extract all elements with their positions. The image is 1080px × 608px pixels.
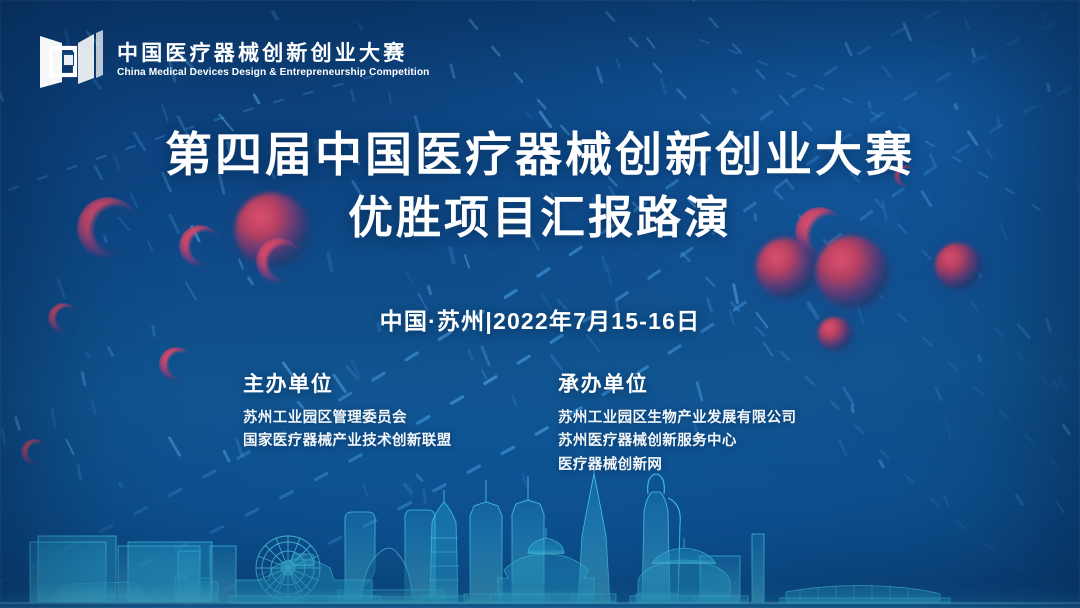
event-date-location: 中国·苏州|2022年7月15-16日 bbox=[0, 302, 1080, 336]
sparkle-dash bbox=[585, 334, 601, 353]
skyline-silhouette bbox=[0, 458, 1080, 608]
sparkle-dash bbox=[270, 10, 279, 21]
sparkle-dash bbox=[953, 103, 959, 111]
sparkle-dash bbox=[405, 270, 414, 285]
organizer-block-coorganizer: 承办单位 苏州工业园区生物产业发展有限公司 苏州医疗器械创新服务中心 医疗器械创… bbox=[540, 368, 855, 477]
sparkle-dash bbox=[646, 37, 657, 50]
sparkle-dash bbox=[964, 17, 971, 30]
logo-english-name: China Medical Devices Design & Entrepren… bbox=[117, 67, 429, 78]
organizer-title-coorganizer: 承办单位 bbox=[558, 368, 855, 398]
open-door-logo-icon bbox=[38, 28, 104, 90]
sparkle-dash bbox=[238, 258, 244, 270]
headline-line-1: 第四届中国医疗器械创新创业大赛 bbox=[0, 126, 1080, 183]
sparkle-dash bbox=[84, 350, 91, 358]
organizer-item: 国家医疗器械产业技术创新联盟 bbox=[243, 430, 540, 453]
sparkle-dash bbox=[1046, 82, 1051, 92]
sparkle-dash bbox=[1039, 12, 1047, 22]
sparkle-dash bbox=[350, 89, 356, 102]
sparkle-dash bbox=[161, 104, 169, 121]
organizer-section: 主办单位 苏州工业园区管理委员会 国家医疗器械产业技术创新联盟 承办单位 苏州工… bbox=[0, 368, 1080, 477]
sparkle-dash bbox=[867, 101, 872, 109]
sparkle-dash bbox=[388, 92, 392, 103]
sparkle-dash bbox=[762, 341, 774, 357]
organizer-title-host: 主办单位 bbox=[243, 368, 540, 398]
poster-canvas: 中国医疗器械创新创业大赛 China Medical Devices Desig… bbox=[0, 0, 1080, 608]
sparkle-dash bbox=[732, 283, 740, 304]
sparkle-dash bbox=[902, 22, 912, 42]
sparkle-dash bbox=[880, 65, 892, 78]
sparkle-dash bbox=[247, 276, 255, 286]
sparkle-dash bbox=[0, 91, 5, 101]
sparkle-dash bbox=[449, 63, 456, 79]
sparkle-dash bbox=[615, 58, 621, 69]
sparkle-dash bbox=[467, 349, 474, 361]
sparkle-dash bbox=[185, 281, 198, 301]
sparkle-dash bbox=[525, 110, 535, 120]
organizer-item: 苏州医疗器械创新服务中心 bbox=[558, 430, 855, 453]
sparkle-dash bbox=[448, 246, 456, 265]
sparkle-dash bbox=[774, 261, 779, 276]
organizer-item: 苏州工业园区管理委员会 bbox=[243, 407, 540, 430]
sparkle-dash bbox=[660, 78, 667, 95]
sparkle-dash bbox=[731, 87, 738, 95]
sparkle-dash bbox=[601, 255, 608, 273]
sparkle-dash bbox=[970, 47, 976, 58]
organizer-block-host: 主办单位 苏州工业园区管理委员会 国家医疗器械产业技术创新联盟 bbox=[225, 368, 540, 477]
sparkle-dash bbox=[969, 262, 982, 280]
headline-line-2: 优胜项目汇报路演 bbox=[0, 189, 1080, 248]
sparkle-dash bbox=[977, 354, 983, 362]
sparkle-dash bbox=[606, 264, 613, 286]
sparkle-dash bbox=[427, 284, 433, 295]
sparkle-dash bbox=[595, 66, 603, 84]
sparkle-dash bbox=[326, 251, 334, 273]
sparkle-dash bbox=[844, 41, 854, 57]
poster-headline: 第四届中国医疗器械创新创业大赛 优胜项目汇报路演 bbox=[0, 126, 1080, 248]
sparkle-dash bbox=[56, 278, 66, 300]
sparkle-dash bbox=[107, 346, 115, 357]
sparkle-dash bbox=[480, 345, 491, 366]
logo-chinese-name: 中国医疗器械创新创业大赛 bbox=[117, 43, 439, 65]
organizer-item: 医疗器械创新网 bbox=[558, 454, 855, 477]
decorative-sphere bbox=[935, 243, 981, 289]
sparkle-dash bbox=[252, 93, 260, 105]
competition-logo: 中国医疗器械创新创业大赛 China Medical Devices Desig… bbox=[38, 28, 439, 90]
organizer-item: 苏州工业园区生物产业发展有限公司 bbox=[558, 407, 855, 430]
sparkle-dash bbox=[464, 254, 471, 269]
